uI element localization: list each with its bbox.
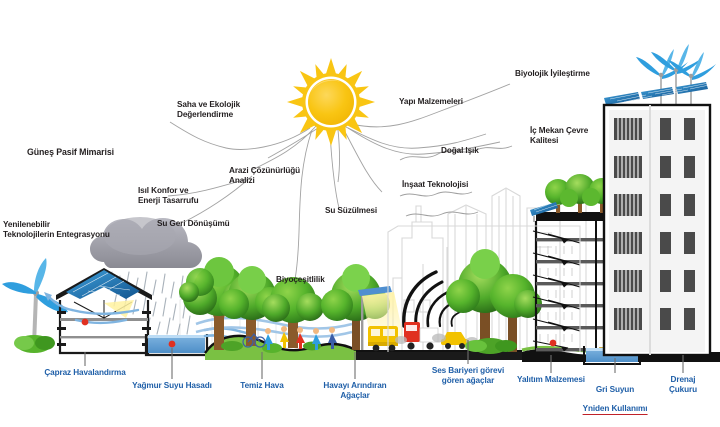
- label-gri-suyun-yniden-kullanimi: Gri Suyun Yniden Kullanımı: [583, 375, 648, 415]
- solar-panel-array: [604, 82, 714, 105]
- label-insaat-teknolojisi: İnşaat Teknolojisi: [402, 180, 468, 190]
- label-yapi-malzemeleri: Yapı Malzemeleri: [399, 97, 463, 107]
- label-havayi-arindiran-agaclar: Havayı Arındıran Ağaçlar: [323, 381, 386, 400]
- label-isil-konfor-ve-enerji-tasarrufu: Isıl Konfor ve Enerji Tasarrufu: [138, 186, 199, 205]
- greywater-label-line2: Yniden Kullanımı: [583, 405, 648, 415]
- label-ses-bariyeri-gorevi-goren-agaclar: Ses Bariyeri görevi gören ağaçlar: [432, 366, 504, 385]
- label-dogal-isik: Doğal Işık: [441, 146, 479, 156]
- label-yalitim-malzemesi: Yalıtım Malzemesi: [517, 375, 585, 385]
- bus: [368, 326, 398, 351]
- label-arazi-cozunurlugu-analizi: Arazi Çözünürlüğü Analizi: [229, 166, 300, 185]
- label-su-suzulmesi: Su Süzülmesi: [325, 206, 377, 216]
- label-saha-ve-ekolojik-degerlendirme: Saha ve Ekolojik Değerlendirme: [177, 100, 240, 119]
- greywater-label-line1: Gri Suyun: [596, 385, 634, 394]
- label-temiz-hava: Temiz Hava: [240, 381, 283, 391]
- label-su-geri-donusumu: Su Geri Dönüşümü: [157, 219, 230, 229]
- roof-wind-turbines: [636, 44, 716, 113]
- bush: [465, 338, 517, 354]
- label-gunes-pasif-mimarisi: Güneş Pasif Mimarisi: [27, 147, 114, 157]
- wind-turbine-icon: [2, 258, 68, 345]
- sun-icon: [287, 58, 375, 146]
- label-ic-mekan-cevre-kalitesi: İç Mekan Çevre Kalitesi: [530, 126, 588, 145]
- label-yagmur-suyu-hasadi: Yağmur Suyu Hasadı: [132, 381, 212, 391]
- label-biyolojik-iyilestirme: Biyolojik İyileştirme: [515, 69, 590, 79]
- bush: [14, 335, 55, 353]
- residential-tower: [604, 44, 716, 355]
- label-biyocesitlilik: Biyoçeşitlilik: [276, 275, 325, 285]
- infographic-canvas: Güneş Pasif Mimarisi Yenilenebilir Tekno…: [0, 0, 720, 427]
- passive-solar-house-section: [44, 268, 152, 353]
- label-yenilenebilir-teknolojilerin-entegrasyonu: Yenilenebilir Teknolojilerin Entegrasyon…: [3, 220, 110, 239]
- label-capraz-havalandirma: Çapraz Havalandırma: [44, 368, 125, 378]
- label-drenaj-cukuru: Drenaj Çukuru: [665, 375, 702, 394]
